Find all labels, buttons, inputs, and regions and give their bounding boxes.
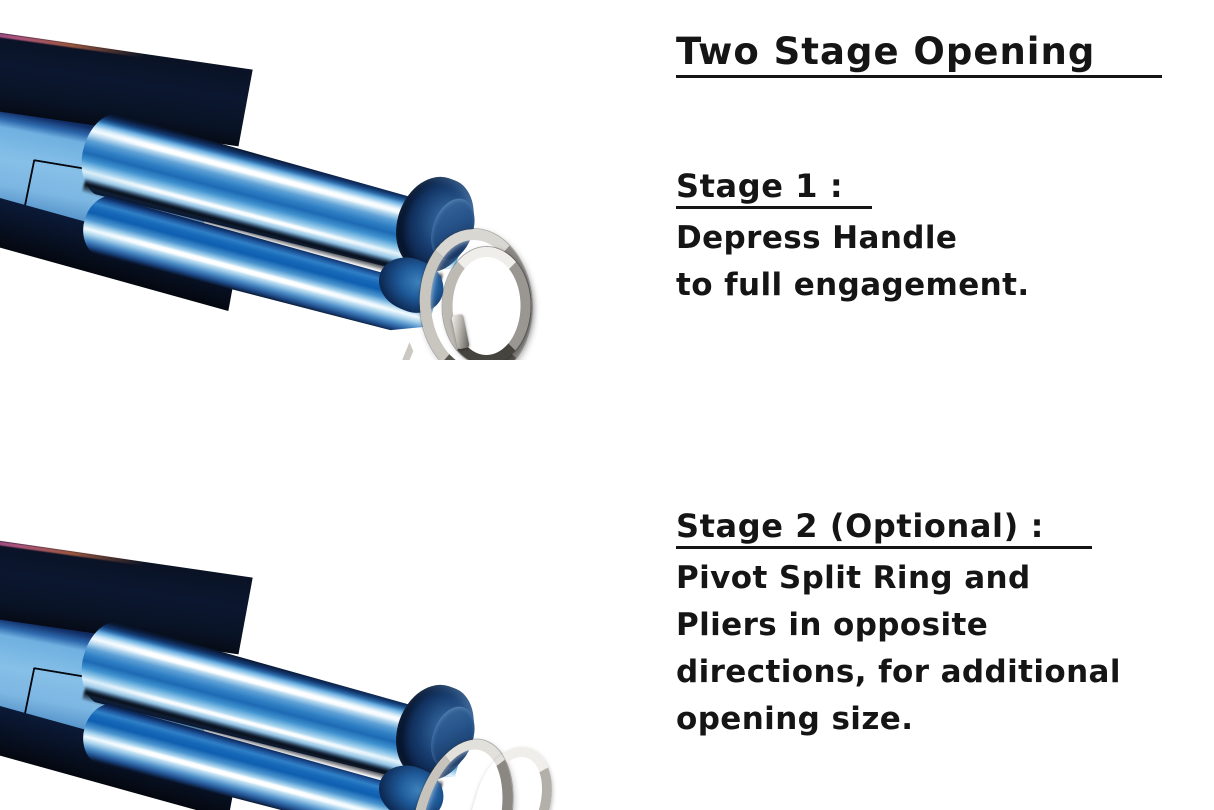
- instruction-card: Two Stage Opening Stage 1 : Depress Hand…: [0, 0, 1214, 810]
- stage-1-line-2: to full engagement.: [676, 262, 1146, 309]
- stage-2-line-3: directions, for additional: [676, 649, 1196, 696]
- stage-2-heading: Stage 2 (Optional) :: [676, 506, 1196, 546]
- stage-2-photo: [0, 398, 664, 810]
- stage-1-heading: Stage 1 :: [676, 166, 1146, 206]
- pliers-illustration-stage-1: [0, 13, 664, 360]
- stage-2-text-block: Stage 2 (Optional) : Pivot Split Ring an…: [676, 506, 1196, 743]
- stage-1-text-block: Stage 1 : Depress Handle to full engagem…: [676, 166, 1146, 309]
- stage-2-line-2: Pliers in opposite: [676, 602, 1196, 649]
- stage-1-photo: [0, 0, 664, 360]
- pliers-illustration-stage-2: [0, 521, 664, 810]
- page-title-underline: [676, 75, 1162, 78]
- stage-1-line-1: Depress Handle: [676, 215, 1146, 262]
- stage-2-line-4: opening size.: [676, 696, 1196, 743]
- title-block: Two Stage Opening: [676, 30, 1176, 78]
- stage-2-line-1: Pivot Split Ring and: [676, 555, 1196, 602]
- stage-2-heading-underline: [676, 546, 1092, 549]
- stage-1-heading-underline: [676, 206, 872, 209]
- page-title: Two Stage Opening: [676, 30, 1176, 74]
- split-ring-inner-coil: [442, 247, 531, 360]
